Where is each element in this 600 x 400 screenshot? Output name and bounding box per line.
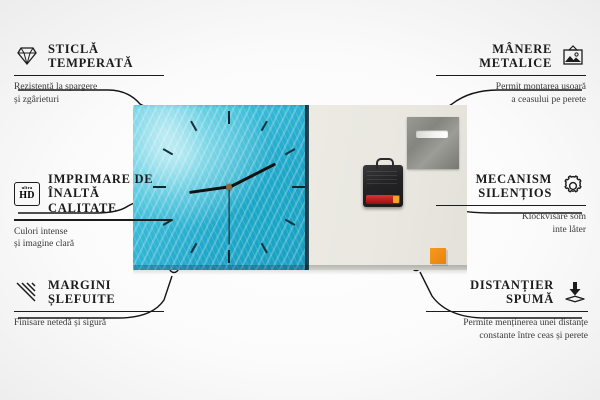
picture-hanger-icon [560, 44, 586, 68]
feature-desc: Culori intense și imagine clară [14, 226, 172, 251]
metal-hanger-part [407, 117, 459, 169]
feature-title: MÂNERE METALICE [479, 42, 552, 71]
divider [436, 205, 586, 207]
feature-high-quality-print: ultra HD IMPRIMARE DE ÎNALTĂ CALITATE Cu… [14, 172, 172, 251]
ultra-hd-icon: ultra HD [14, 182, 40, 206]
feature-silent-mechanism: MECANISM SILENȚIOS Klockvisare som inte … [436, 172, 586, 236]
feature-desc: Finisare netedă și sigură [14, 317, 164, 330]
feature-metal-handles: MÂNERE METALICE Permit montarea ușoară a… [436, 42, 586, 106]
photo-shadow [133, 265, 467, 275]
divider [426, 311, 588, 313]
clock-tick [228, 111, 230, 187]
divider [14, 311, 164, 313]
foam-spacer-part [430, 248, 446, 264]
clock-mechanism-part [363, 165, 403, 207]
feature-desc: Permit montarea ușoară a ceasului pe per… [436, 81, 586, 106]
second-hand [228, 187, 229, 245]
feature-title: MECANISM SILENȚIOS [476, 172, 552, 201]
feature-desc: Rezistentă la spargere și zgârieturi [14, 81, 164, 106]
divider [14, 75, 164, 77]
arrow-down-pad-icon [562, 280, 588, 304]
feature-title: IMPRIMARE DE ÎNALTĂ CALITATE [48, 172, 172, 215]
clock-face [153, 111, 305, 263]
product-photo [133, 105, 467, 270]
feature-polished-edges: MARGINI ȘLEFUITE Finisare netedă și sigu… [14, 278, 164, 330]
divider [436, 75, 586, 77]
feature-tempered-glass: STICLĂ TEMPERATĂ Rezistentă la spargere … [14, 42, 164, 106]
battery [366, 195, 400, 204]
feature-title: DISTANȚIER SPUMĂ [470, 278, 554, 307]
feature-title: MARGINI ȘLEFUITE [48, 278, 115, 307]
divider [14, 219, 172, 221]
feature-desc: Klockvisare som inte låter [436, 211, 586, 236]
clock-tick [229, 186, 305, 188]
feature-desc: Permite menținerea unei distanțe constan… [426, 317, 588, 342]
mechanism-loop [376, 158, 394, 169]
mechanism-texture [367, 171, 397, 187]
diamond-icon [14, 44, 40, 68]
infographic-canvas: STICLĂ TEMPERATĂ Rezistentă la spargere … [0, 0, 600, 400]
hanger-slot [416, 130, 448, 138]
clock-center-cap [226, 184, 232, 190]
gear-icon [560, 174, 586, 198]
feature-title: STICLĂ TEMPERATĂ [48, 42, 133, 71]
diagonal-lines-icon [14, 280, 40, 304]
feature-foam-spacer: DISTANȚIER SPUMĂ Permite menținerea unei… [426, 278, 588, 342]
